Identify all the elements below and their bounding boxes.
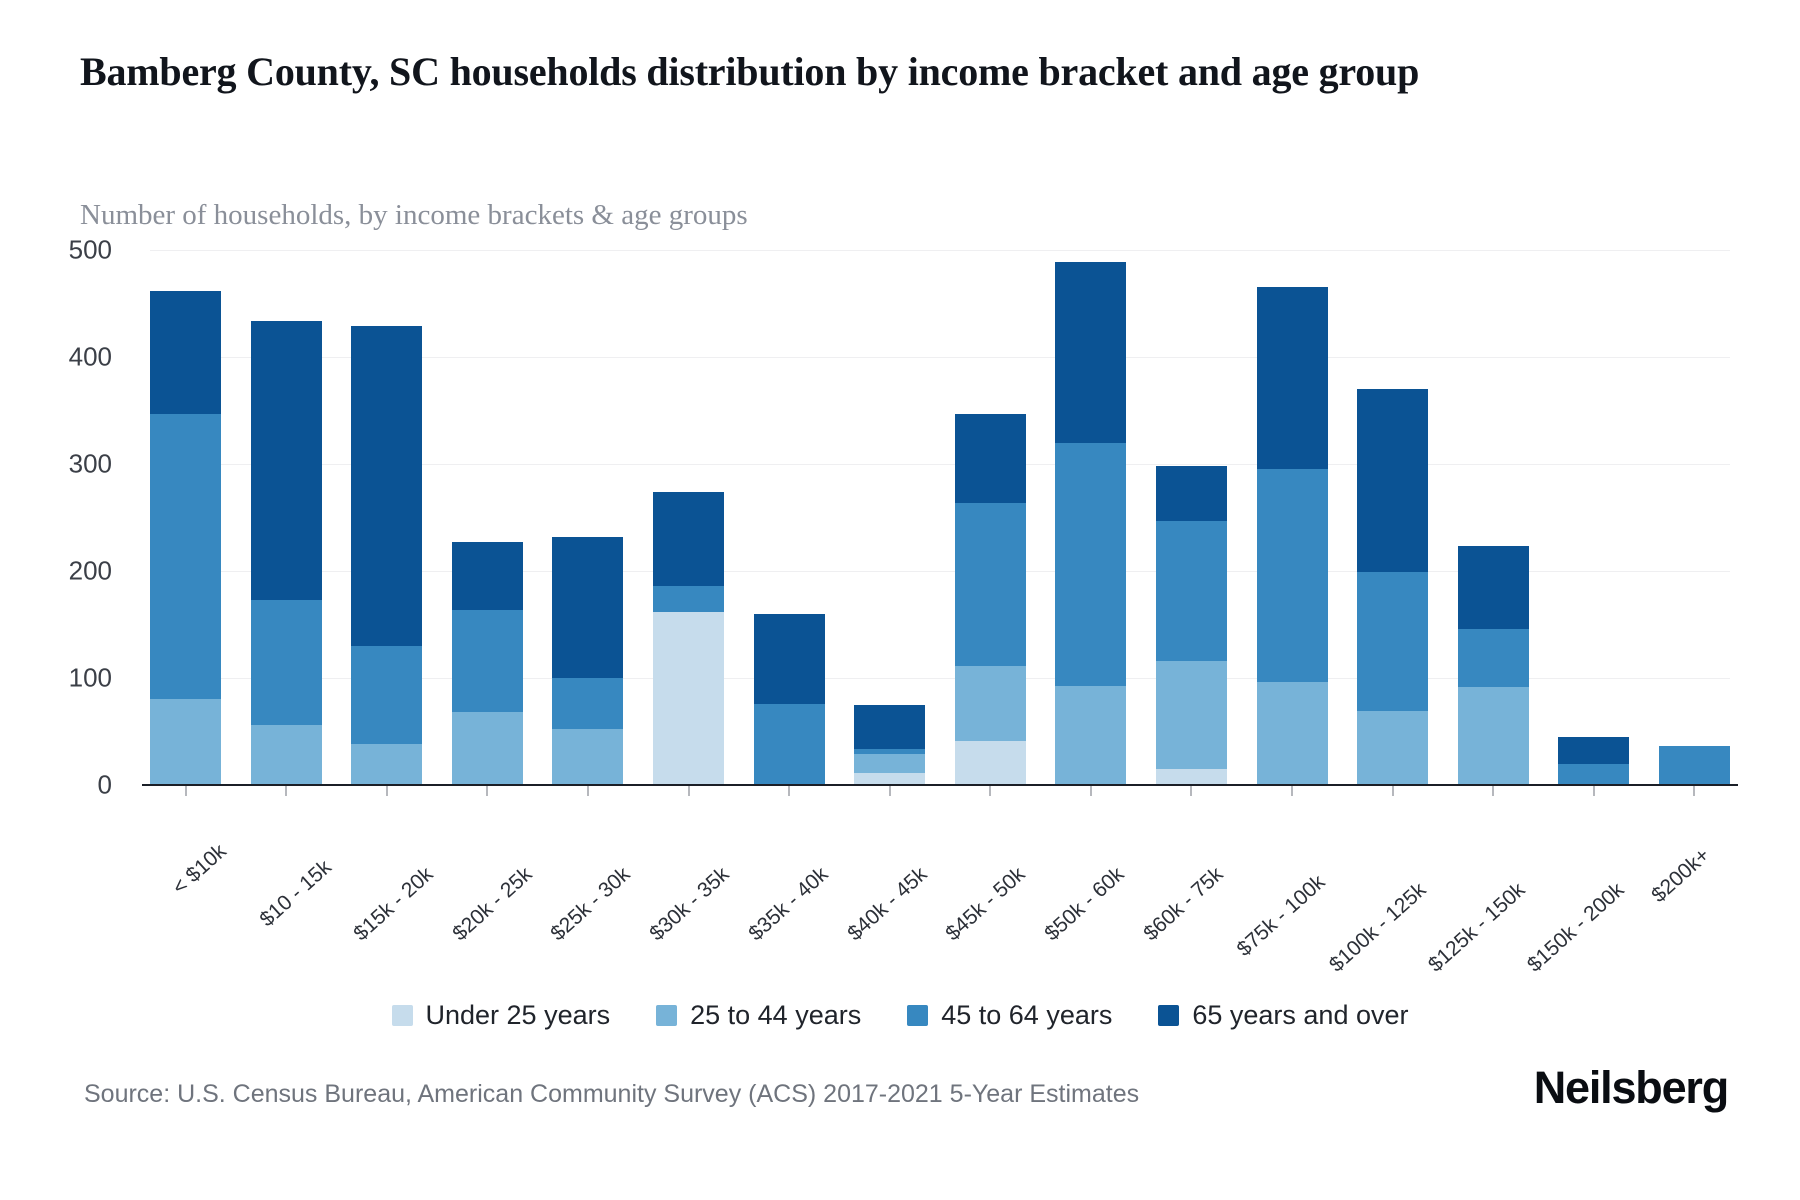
x-axis-label: $75k - 100k [1232, 870, 1330, 961]
legend: Under 25 years25 to 44 years45 to 64 yea… [0, 1000, 1800, 1031]
x-axis-label: $25k - 30k [547, 863, 636, 946]
bar-column[interactable] [1055, 250, 1126, 785]
bar-segment[interactable] [1156, 661, 1227, 769]
bar-segment[interactable] [1357, 572, 1428, 711]
bar-segment[interactable] [1458, 687, 1529, 785]
bar-segment[interactable] [955, 503, 1026, 667]
page-subtitle: Number of households, by income brackets… [80, 198, 1580, 233]
bar-segment[interactable] [251, 321, 322, 600]
x-axis-label: $30k - 35k [645, 863, 734, 946]
bar-segment[interactable] [1156, 769, 1227, 785]
bar-column[interactable] [150, 250, 221, 785]
bar-segment[interactable] [1156, 521, 1227, 661]
brand-logo: Neilsberg [1534, 1062, 1728, 1114]
bar-column[interactable] [653, 250, 724, 785]
legend-item[interactable]: 65 years and over [1158, 1000, 1408, 1031]
bar-column[interactable] [452, 250, 523, 785]
y-axis-tick-label: 0 [98, 770, 134, 801]
source-note: Source: U.S. Census Bureau, American Com… [84, 1080, 1139, 1109]
bar-column[interactable] [1558, 250, 1629, 785]
bar-segment[interactable] [1156, 466, 1227, 521]
x-axis-label: $15k - 20k [349, 863, 438, 946]
bar-segment[interactable] [1055, 443, 1126, 686]
bar-segment[interactable] [754, 614, 825, 704]
legend-label: 45 to 64 years [941, 1000, 1112, 1031]
x-axis-label: $20k - 25k [448, 863, 537, 946]
page-title: Bamberg County, SC households distributi… [80, 48, 1700, 95]
bar-segment[interactable] [1558, 764, 1629, 785]
bar-segment[interactable] [955, 741, 1026, 785]
y-axis-tick-label: 500 [69, 235, 134, 266]
y-axis-tick-label: 200 [69, 556, 134, 587]
x-axis-label: $40k - 45k [843, 863, 932, 946]
bar-segment[interactable] [754, 704, 825, 785]
legend-swatch-icon [1158, 1005, 1179, 1026]
bar-segment[interactable] [1458, 546, 1529, 628]
bar-column[interactable] [1357, 250, 1428, 785]
legend-item[interactable]: 25 to 44 years [656, 1000, 861, 1031]
bar-segment[interactable] [150, 291, 221, 414]
bar-column[interactable] [251, 250, 322, 785]
bar-segment[interactable] [653, 586, 724, 612]
x-axis-label: $100k - 125k [1325, 878, 1431, 977]
bar-segment[interactable] [1458, 629, 1529, 687]
legend-label: 25 to 44 years [690, 1000, 861, 1031]
x-axis-label: $60k - 75k [1139, 863, 1228, 946]
bar-column[interactable] [351, 250, 422, 785]
bar-column[interactable] [1659, 250, 1730, 785]
legend-label: Under 25 years [426, 1000, 611, 1031]
plot-area: 0100200300400500 [150, 250, 1730, 785]
legend-item[interactable]: Under 25 years [392, 1000, 611, 1031]
bar-segment[interactable] [452, 712, 523, 785]
bar-segment[interactable] [653, 492, 724, 586]
bar-segment[interactable] [552, 537, 623, 678]
x-axis-label: $35k - 40k [744, 863, 833, 946]
bar-column[interactable] [552, 250, 623, 785]
bar-segment[interactable] [955, 414, 1026, 503]
bar-segment[interactable] [1558, 737, 1629, 764]
bar-segment[interactable] [1357, 711, 1428, 785]
bar-series-group [150, 250, 1730, 785]
bar-segment[interactable] [1055, 262, 1126, 443]
y-axis-tick-label: 100 [69, 663, 134, 694]
legend-swatch-icon [907, 1005, 928, 1026]
bar-segment[interactable] [1357, 389, 1428, 572]
x-axis-label: $200k+ [1647, 843, 1715, 907]
bar-segment[interactable] [251, 725, 322, 785]
bar-segment[interactable] [452, 542, 523, 609]
x-axis-line [142, 784, 1738, 786]
bar-column[interactable] [1257, 250, 1328, 785]
chart-page: Bamberg County, SC households distributi… [0, 0, 1800, 1200]
bar-segment[interactable] [854, 705, 925, 749]
bar-segment[interactable] [452, 610, 523, 713]
x-axis-label: $45k - 50k [942, 863, 1031, 946]
bar-segment[interactable] [150, 699, 221, 785]
bar-segment[interactable] [653, 612, 724, 785]
bar-segment[interactable] [351, 744, 422, 785]
legend-item[interactable]: 45 to 64 years [907, 1000, 1112, 1031]
bar-column[interactable] [1458, 250, 1529, 785]
bar-column[interactable] [754, 250, 825, 785]
bar-segment[interactable] [552, 729, 623, 785]
x-axis-label: $10 - 15k [256, 856, 337, 932]
bar-segment[interactable] [351, 646, 422, 744]
bar-segment[interactable] [854, 754, 925, 773]
bar-segment[interactable] [351, 326, 422, 646]
x-axis-label: $50k - 60k [1040, 863, 1129, 946]
legend-swatch-icon [656, 1005, 677, 1026]
bar-segment[interactable] [1257, 287, 1328, 469]
bar-segment[interactable] [251, 600, 322, 725]
bar-column[interactable] [1156, 250, 1227, 785]
legend-swatch-icon [392, 1005, 413, 1026]
bar-column[interactable] [854, 250, 925, 785]
bar-segment[interactable] [150, 414, 221, 700]
bar-segment[interactable] [1257, 469, 1328, 682]
x-axis-label: < $10k [168, 840, 231, 900]
bar-column[interactable] [955, 250, 1026, 785]
x-axis-label: $125k - 150k [1424, 878, 1530, 977]
bar-segment[interactable] [1659, 746, 1730, 785]
y-axis-tick-label: 300 [69, 449, 134, 480]
bar-segment[interactable] [1257, 682, 1328, 785]
bar-segment[interactable] [1055, 686, 1126, 786]
y-axis-tick-label: 400 [69, 342, 134, 373]
x-axis-labels: < $10k$10 - 15k$15k - 20k$20k - 25k$25k … [150, 791, 1730, 911]
legend-label: 65 years and over [1192, 1000, 1408, 1031]
bar-segment[interactable] [955, 666, 1026, 741]
bar-segment[interactable] [552, 678, 623, 729]
x-axis-label: $150k - 200k [1523, 878, 1629, 977]
